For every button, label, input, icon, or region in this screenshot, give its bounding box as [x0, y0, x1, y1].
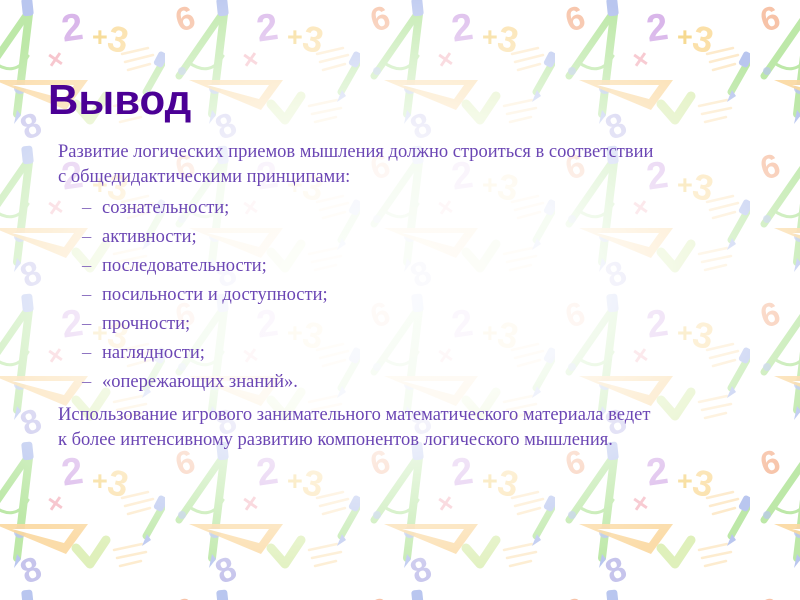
list-item: – прочности; — [58, 310, 658, 339]
list-item: – наглядности; — [58, 339, 658, 368]
bullet-dash: – — [82, 310, 91, 339]
bullet-dash: – — [82, 339, 91, 368]
slide-canvas: Вывод Развитие логических приемов мышлен… — [0, 0, 800, 600]
list-item-label: «опережающих знаний». — [102, 372, 298, 392]
slide-content: Вывод Развитие логических приемов мышлен… — [0, 0, 800, 600]
bullet-dash: – — [82, 281, 91, 310]
intro-paragraph: Развитие логических приемов мышления дол… — [58, 140, 658, 189]
bullet-dash: – — [82, 223, 91, 252]
list-item-label: прочности; — [102, 314, 190, 334]
slide-body: Развитие логических приемов мышления дол… — [58, 140, 658, 452]
list-item: – посильности и доступности; — [58, 281, 658, 310]
bullet-dash: – — [82, 368, 91, 397]
list-item-label: наглядности; — [102, 343, 205, 363]
bullet-dash: – — [82, 194, 91, 223]
list-item-label: посильности и доступности; — [102, 285, 328, 305]
list-item-label: активности; — [102, 227, 197, 247]
page-title: Вывод — [48, 78, 191, 123]
list-item: – «опережающих знаний». — [58, 368, 658, 397]
closing-paragraph: Использование игрового занимательного ма… — [58, 403, 658, 452]
list-item: – активности; — [58, 223, 658, 252]
list-item-label: последовательности; — [102, 256, 267, 276]
list-item: – последовательности; — [58, 252, 658, 281]
principles-list: – сознательности; – активности; – послед… — [58, 194, 658, 397]
list-item: – сознательности; — [58, 194, 658, 223]
bullet-dash: – — [82, 252, 91, 281]
list-item-label: сознательности; — [102, 198, 229, 218]
